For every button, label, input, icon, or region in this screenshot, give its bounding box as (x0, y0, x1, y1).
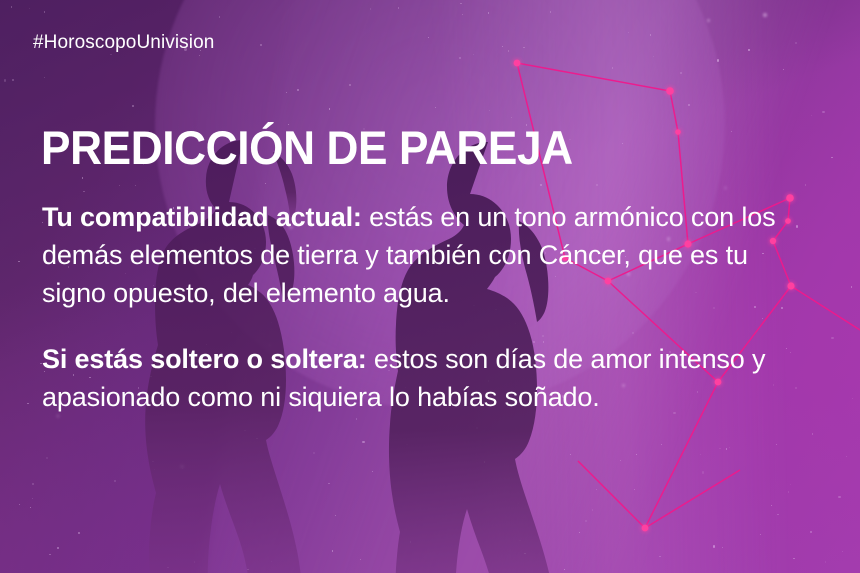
paragraph-single: Si estás soltero o soltera: estos son dí… (42, 340, 777, 416)
horoscope-card: #HoroscopoUnivision PREDICCIÓN DE PAREJA… (0, 0, 860, 573)
paragraph-compatibility: Tu compatibilidad actual: estás en un to… (42, 198, 777, 312)
body-copy: Tu compatibilidad actual: estás en un to… (42, 198, 777, 416)
hashtag-label: #HoroscopoUnivision (33, 32, 214, 54)
paragraph-compatibility-lead: Tu compatibilidad actual: (42, 202, 362, 232)
paragraph-single-lead: Si estás soltero o soltera: (42, 344, 367, 374)
page-title: PREDICCIÓN DE PAREJA (41, 123, 573, 173)
card-content: #HoroscopoUnivision PREDICCIÓN DE PAREJA… (0, 0, 860, 573)
